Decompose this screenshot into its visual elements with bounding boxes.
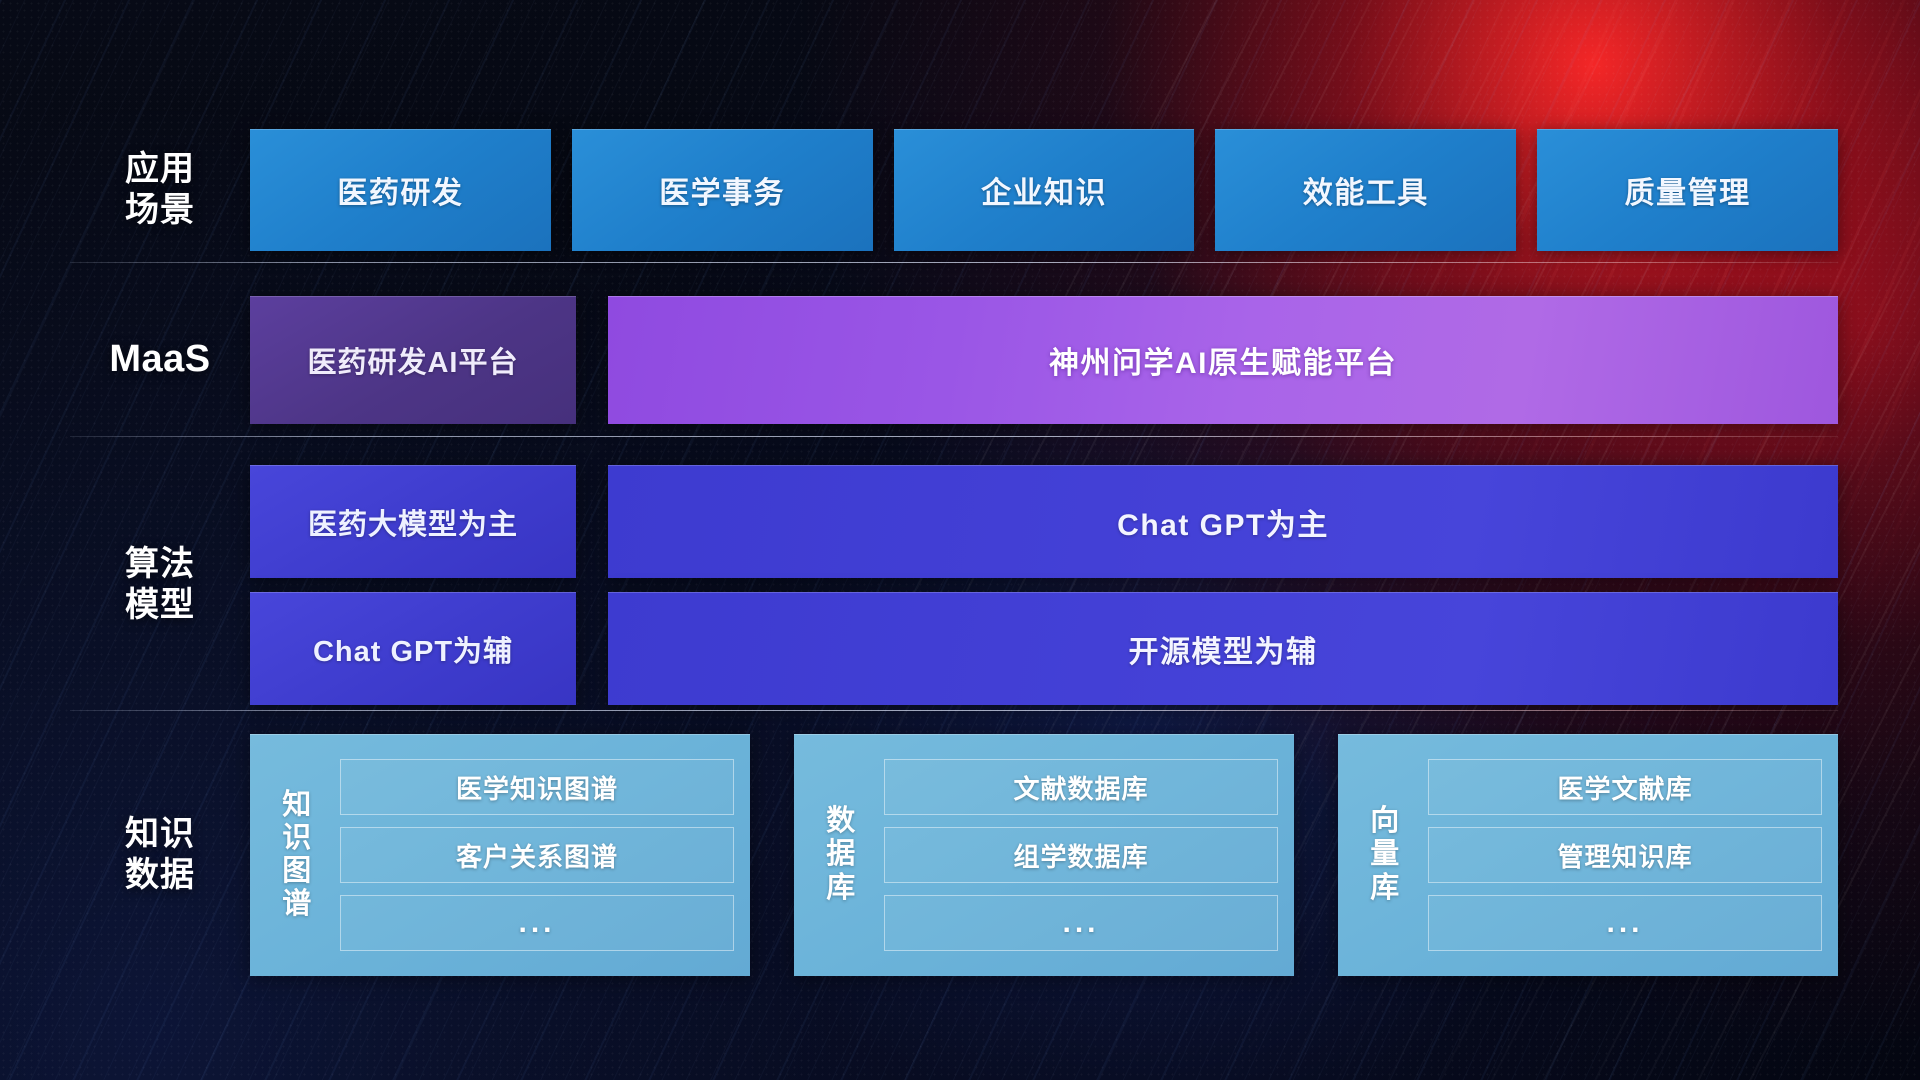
algorithm-box-stack: 医药大模型为主 Chat GPT为主 Chat GPT为辅 开源模型为辅	[250, 465, 1838, 705]
knowledge-item-more-database[interactable]: ...	[884, 895, 1278, 951]
algo-box-pharma-llm-primary[interactable]: 医药大模型为主	[250, 465, 576, 578]
knowledge-item-more-vector-store[interactable]: ...	[1428, 895, 1822, 951]
knowledge-item-customer-relation-graph[interactable]: 客户关系图谱	[340, 827, 734, 883]
architecture-diagram: 应用 场景 医药研发 医学事务 企业知识 效能工具 质量管理 MaaS 医药研发…	[0, 0, 1920, 1080]
knowledge-item-management-knowledge-library[interactable]: 管理知识库	[1428, 827, 1822, 883]
algo-box-chatgpt-secondary[interactable]: Chat GPT为辅	[250, 592, 576, 705]
tier-label-applications: 应用 场景	[70, 149, 250, 232]
knowledge-group-database: 数 据 库 文献数据库 组学数据库 ...	[794, 734, 1294, 976]
knowledge-item-list-database: 文献数据库 组学数据库 ...	[878, 759, 1278, 951]
tier-knowledge: 知识 数据 知 识 图 谱 医学知识图谱 客户关系图谱 ... 数 据 库	[70, 730, 1838, 980]
knowledge-item-list-knowledge-graph: 医学知识图谱 客户关系图谱 ...	[334, 759, 734, 951]
tier-algorithms-body: 医药大模型为主 Chat GPT为主 Chat GPT为辅 开源模型为辅	[250, 465, 1838, 705]
app-box-quality-management[interactable]: 质量管理	[1537, 129, 1838, 251]
divider-applications-maas	[70, 262, 1838, 263]
diagram-canvas: 应用 场景 医药研发 医学事务 企业知识 效能工具 质量管理 MaaS 医药研发…	[0, 0, 1920, 1080]
tier-maas-body: 医药研发AI平台 神州问学AI原生赋能平台	[250, 296, 1838, 424]
divider-algorithms-knowledge	[70, 710, 1838, 711]
maas-box-pharma-ai-platform[interactable]: 医药研发AI平台	[250, 296, 576, 424]
knowledge-group-grid: 知 识 图 谱 医学知识图谱 客户关系图谱 ... 数 据 库 文献数据库 组学…	[250, 734, 1838, 976]
algorithm-row-primary: 医药大模型为主 Chat GPT为主	[250, 465, 1838, 578]
app-box-efficiency-tools[interactable]: 效能工具	[1215, 129, 1516, 251]
knowledge-group-title-vector-store: 向 量 库	[1348, 805, 1422, 904]
application-box-grid: 医药研发 医学事务 企业知识 效能工具 质量管理	[250, 129, 1838, 251]
tier-knowledge-body: 知 识 图 谱 医学知识图谱 客户关系图谱 ... 数 据 库 文献数据库 组学…	[250, 734, 1838, 976]
tier-algorithms: 算法 模型 医药大模型为主 Chat GPT为主 Chat GPT为辅 开源模型…	[70, 465, 1838, 705]
knowledge-group-title-database: 数 据 库	[804, 805, 878, 904]
knowledge-item-literature-database[interactable]: 文献数据库	[884, 759, 1278, 815]
tier-maas: MaaS 医药研发AI平台 神州问学AI原生赋能平台	[70, 292, 1838, 427]
tier-label-maas: MaaS	[70, 336, 250, 382]
tier-applications-body: 医药研发 医学事务 企业知识 效能工具 质量管理	[250, 129, 1838, 251]
knowledge-item-omics-database[interactable]: 组学数据库	[884, 827, 1278, 883]
algo-box-opensource-secondary[interactable]: 开源模型为辅	[608, 592, 1838, 705]
knowledge-group-knowledge-graph: 知 识 图 谱 医学知识图谱 客户关系图谱 ...	[250, 734, 750, 976]
algo-box-chatgpt-primary[interactable]: Chat GPT为主	[608, 465, 1838, 578]
maas-box-row: 医药研发AI平台 神州问学AI原生赋能平台	[250, 296, 1838, 424]
app-box-enterprise-knowledge[interactable]: 企业知识	[894, 129, 1195, 251]
knowledge-group-vector-store: 向 量 库 医学文献库 管理知识库 ...	[1338, 734, 1838, 976]
knowledge-item-medical-literature-library[interactable]: 医学文献库	[1428, 759, 1822, 815]
app-box-medical-affairs[interactable]: 医学事务	[572, 129, 873, 251]
maas-box-shenzhou-wenxue-platform[interactable]: 神州问学AI原生赋能平台	[608, 296, 1838, 424]
knowledge-group-title-knowledge-graph: 知 识 图 谱	[260, 789, 334, 921]
tier-applications: 应用 场景 医药研发 医学事务 企业知识 效能工具 质量管理	[70, 125, 1838, 255]
algorithm-row-secondary: Chat GPT为辅 开源模型为辅	[250, 592, 1838, 705]
knowledge-item-list-vector-store: 医学文献库 管理知识库 ...	[1422, 759, 1822, 951]
tier-label-algorithms: 算法 模型	[70, 544, 250, 627]
app-box-pharma-rd[interactable]: 医药研发	[250, 129, 551, 251]
tier-label-knowledge: 知识 数据	[70, 814, 250, 897]
knowledge-item-more-knowledge-graph[interactable]: ...	[340, 895, 734, 951]
knowledge-item-medical-knowledge-graph[interactable]: 医学知识图谱	[340, 759, 734, 815]
divider-maas-algorithms	[70, 436, 1838, 437]
